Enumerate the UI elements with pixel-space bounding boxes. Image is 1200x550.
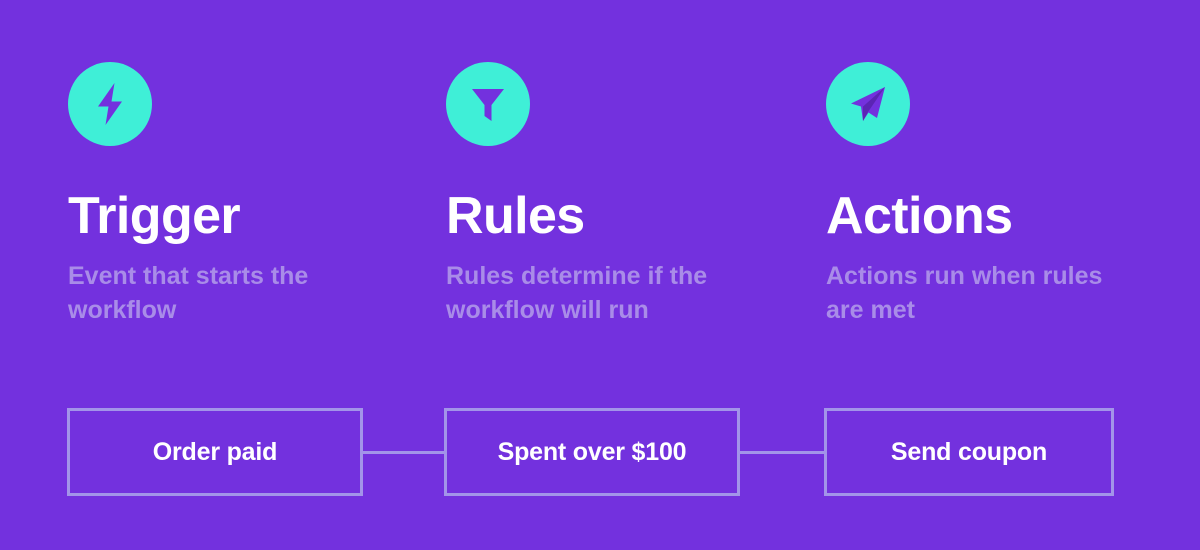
flow-step-label: Spent over $100 — [498, 438, 687, 467]
flow-connector-line — [740, 451, 824, 454]
workflow-column-actions: Actions Actions run when rules are met — [826, 62, 1166, 327]
column-description: Actions run when rules are met — [826, 259, 1106, 327]
flow-step-label: Order paid — [153, 438, 277, 467]
lightning-bolt-icon — [68, 62, 152, 146]
workflow-column-trigger: Trigger Event that starts the workflow — [68, 62, 408, 327]
column-description: Rules determine if the workflow will run — [446, 259, 756, 327]
column-heading: Actions — [826, 190, 1166, 243]
paper-plane-send-icon — [826, 62, 910, 146]
funnel-filter-icon — [446, 62, 530, 146]
column-description: Event that starts the workflow — [68, 259, 378, 327]
workflow-flow-row: Order paid Spent over $100 Send coupon — [0, 408, 1200, 496]
workflow-diagram: Trigger Event that starts the workflow R… — [0, 0, 1200, 550]
flow-connector-line — [363, 451, 444, 454]
column-heading: Trigger — [68, 190, 408, 243]
column-heading: Rules — [446, 190, 786, 243]
flow-step-box[interactable]: Spent over $100 — [444, 408, 740, 496]
flow-step-box[interactable]: Order paid — [67, 408, 363, 496]
workflow-column-rules: Rules Rules determine if the workflow wi… — [446, 62, 786, 327]
flow-step-box[interactable]: Send coupon — [824, 408, 1114, 496]
flow-step-label: Send coupon — [891, 438, 1047, 467]
